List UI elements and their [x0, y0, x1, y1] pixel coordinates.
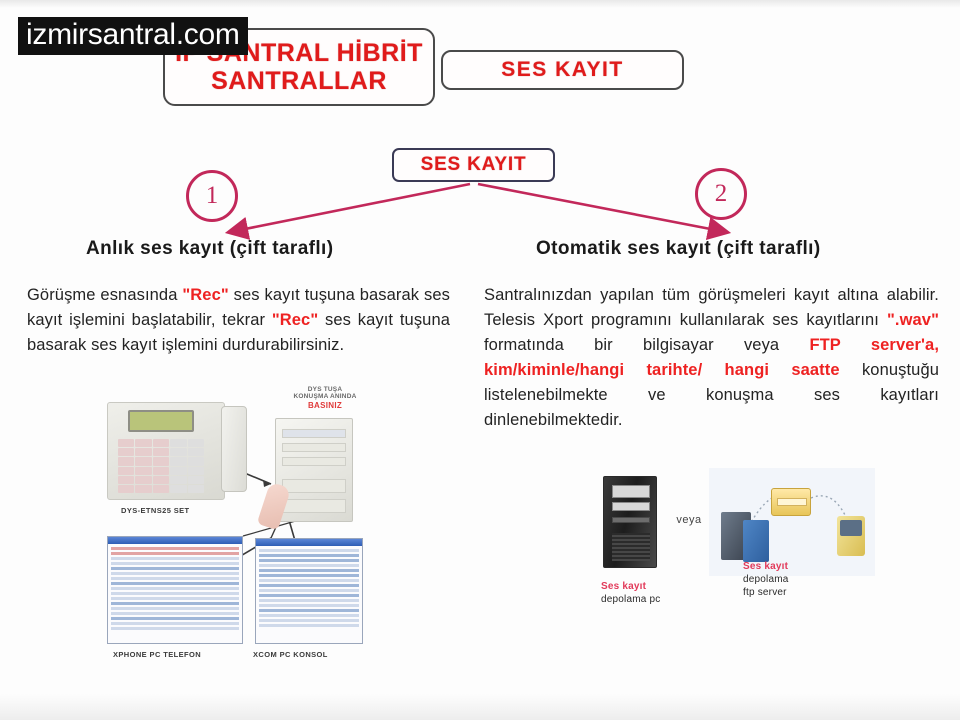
- storage-pc-caption: Ses kayıt depolama pc: [601, 580, 711, 606]
- paragraph-text: Santralınızdan yapılan tüm görüşmeleri k…: [484, 286, 939, 329]
- slide-title-line2: SANTRALLAR: [211, 67, 387, 95]
- center-node-label: SES KAYIT: [421, 154, 527, 176]
- xphone-content-rows: [108, 544, 242, 643]
- branch-2-heading: Otomatik ses kayıt (çift taraflı): [536, 238, 821, 260]
- right-figure-group: veya Ses kayıt depolama pc Ses kayıt dep…: [585, 468, 875, 648]
- header-topic-label: SES KAYIT: [501, 58, 623, 82]
- branch-1-paragraph: Görüşme esnasında "Rec" ses kayıt tuşuna…: [27, 283, 450, 358]
- highlighted-term: "Rec": [272, 311, 318, 329]
- slide-canvas: IP SANTRAL HİBRİT SANTRALLAR SES KAYIT i…: [0, 0, 960, 720]
- xcom-content-rows: [256, 546, 362, 643]
- center-node-box: SES KAYIT: [392, 148, 555, 182]
- storage-pc-photo: [603, 476, 657, 568]
- connector-label: veya: [669, 514, 709, 526]
- ftp-caption-line3: ftp server: [743, 586, 853, 599]
- branch-2-paragraph: Santralınızdan yapılan tüm görüşmeleri k…: [484, 283, 939, 433]
- slide-top-edge: [0, 0, 960, 8]
- branch-number-2-label: 2: [715, 180, 728, 208]
- site-watermark: izmirsantral.com: [18, 17, 248, 55]
- storage-pc-caption-red: Ses kayıt: [601, 580, 711, 593]
- pabx-annotation: DYS TUŞA KONUŞMA ANINDA BASINIZ: [273, 386, 377, 410]
- router-icon: [771, 488, 811, 516]
- arrow-to-branch-2: [478, 184, 726, 232]
- left-figure-group: DYS-ETNS25 SET DYS TUŞA KONUŞMA ANINDA B…: [103, 388, 373, 673]
- branch-number-2: 2: [695, 168, 747, 220]
- pabx-annotation-line3: BASINIZ: [273, 401, 377, 410]
- highlighted-term: "Rec": [182, 286, 228, 304]
- phone-handset: [221, 406, 247, 492]
- pabx-cabinet-photo: [275, 418, 353, 522]
- xcom-software-screenshot: [255, 538, 363, 644]
- slide-bottom-edge: [0, 694, 960, 720]
- paragraph-text: Görüşme esnasında: [27, 286, 182, 304]
- pabx-annotation-line2: KONUŞMA ANINDA: [273, 393, 377, 400]
- branch-number-1-label: 1: [206, 182, 219, 210]
- pc-vent-detail: [612, 533, 650, 561]
- pabx-annotation-line1: DYS TUŞA: [273, 386, 377, 393]
- phone-lcd-icon: [128, 410, 194, 432]
- desk-phone-caption: DYS-ETNS25 SET: [121, 506, 190, 515]
- highlighted-term: ".wav": [887, 311, 939, 329]
- paragraph-text: formatında bir bilgisayar veya: [484, 336, 809, 354]
- storage-pc-caption-rest: depolama pc: [601, 593, 711, 606]
- header-topic-box: SES KAYIT: [441, 50, 684, 90]
- xphone-titlebar: [108, 537, 242, 544]
- branch-number-1: 1: [186, 170, 238, 222]
- arrow-to-branch-1: [230, 184, 470, 232]
- client-pc-icon: [837, 516, 865, 556]
- branch-1-heading: Anlık ses kayıt (çift taraflı): [86, 238, 333, 260]
- xcom-caption: XCOM PC KONSOL: [253, 650, 328, 659]
- ftp-caption-red: Ses kayıt: [743, 560, 853, 573]
- phone-keypad: [118, 439, 204, 493]
- desk-phone-photo: [107, 402, 225, 500]
- xphone-software-screenshot: [107, 536, 243, 644]
- xcom-titlebar: [256, 539, 362, 546]
- xphone-caption: XPHONE PC TELEFON: [113, 650, 201, 659]
- ftp-caption-line2: depolama: [743, 573, 853, 586]
- ftp-server-caption: Ses kayıt depolama ftp server: [743, 560, 853, 599]
